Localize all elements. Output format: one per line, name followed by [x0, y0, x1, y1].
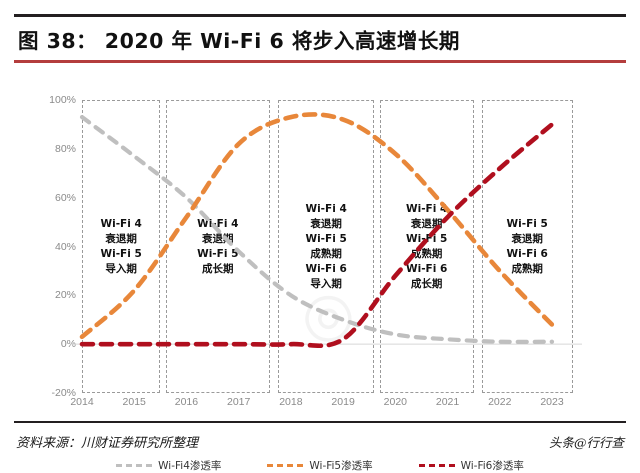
series-line-Wi-Fi5渗透率 — [82, 114, 552, 336]
legend-swatch-icon — [267, 464, 303, 467]
chart-legend: Wi-Fi4渗透率Wi-Fi5渗透率Wi-Fi6渗透率 — [0, 458, 640, 473]
legend-label: Wi-Fi6渗透率 — [461, 458, 524, 473]
legend-item[interactable]: Wi-Fi4渗透率 — [116, 458, 221, 473]
x-axis-tick-label: 2021 — [436, 396, 459, 408]
x-axis-tick-label: 2022 — [488, 396, 511, 408]
x-axis-tick-label: 2015 — [123, 396, 146, 408]
legend-swatch-icon — [116, 464, 152, 467]
title-rule-bottom — [14, 60, 626, 63]
x-axis-tick-label: 2016 — [175, 396, 198, 408]
page-title: 图 38： 2020 年 Wi-Fi 6 将步入高速增长期 — [14, 17, 626, 60]
legend-swatch-icon — [419, 464, 455, 467]
source-note: 资料来源：川财证券研究所整理 — [16, 432, 198, 451]
x-axis-tick-label: 2023 — [540, 396, 563, 408]
x-axis-tick-label: 2014 — [70, 396, 93, 408]
x-axis-tick-label: 2018 — [279, 396, 302, 408]
x-axis: 2014201520162017201820192020202120222023 — [82, 396, 560, 416]
series-line-Wi-Fi4渗透率 — [82, 117, 552, 342]
x-axis-tick-label: 2019 — [331, 396, 354, 408]
x-axis-tick-label: 2020 — [384, 396, 407, 408]
brand-credit: 头条@行行查 — [549, 432, 624, 451]
legend-item[interactable]: Wi-Fi5渗透率 — [267, 458, 372, 473]
series-line-Wi-Fi6渗透率 — [82, 124, 552, 345]
chart-plot-svg — [0, 80, 640, 410]
x-axis-tick-label: 2017 — [227, 396, 250, 408]
figure-title-block: 图 38： 2020 年 Wi-Fi 6 将步入高速增长期 — [14, 14, 626, 63]
chart-container: ◎ -20%0%20%40%60%80%100% Wi-Fi 4衰退期Wi-Fi… — [0, 80, 640, 410]
legend-item[interactable]: Wi-Fi6渗透率 — [419, 458, 524, 473]
legend-label: Wi-Fi5渗透率 — [309, 458, 372, 473]
footer-block: 资料来源：川财证券研究所整理 头条@行行查 — [14, 421, 626, 451]
legend-label: Wi-Fi4渗透率 — [158, 458, 221, 473]
